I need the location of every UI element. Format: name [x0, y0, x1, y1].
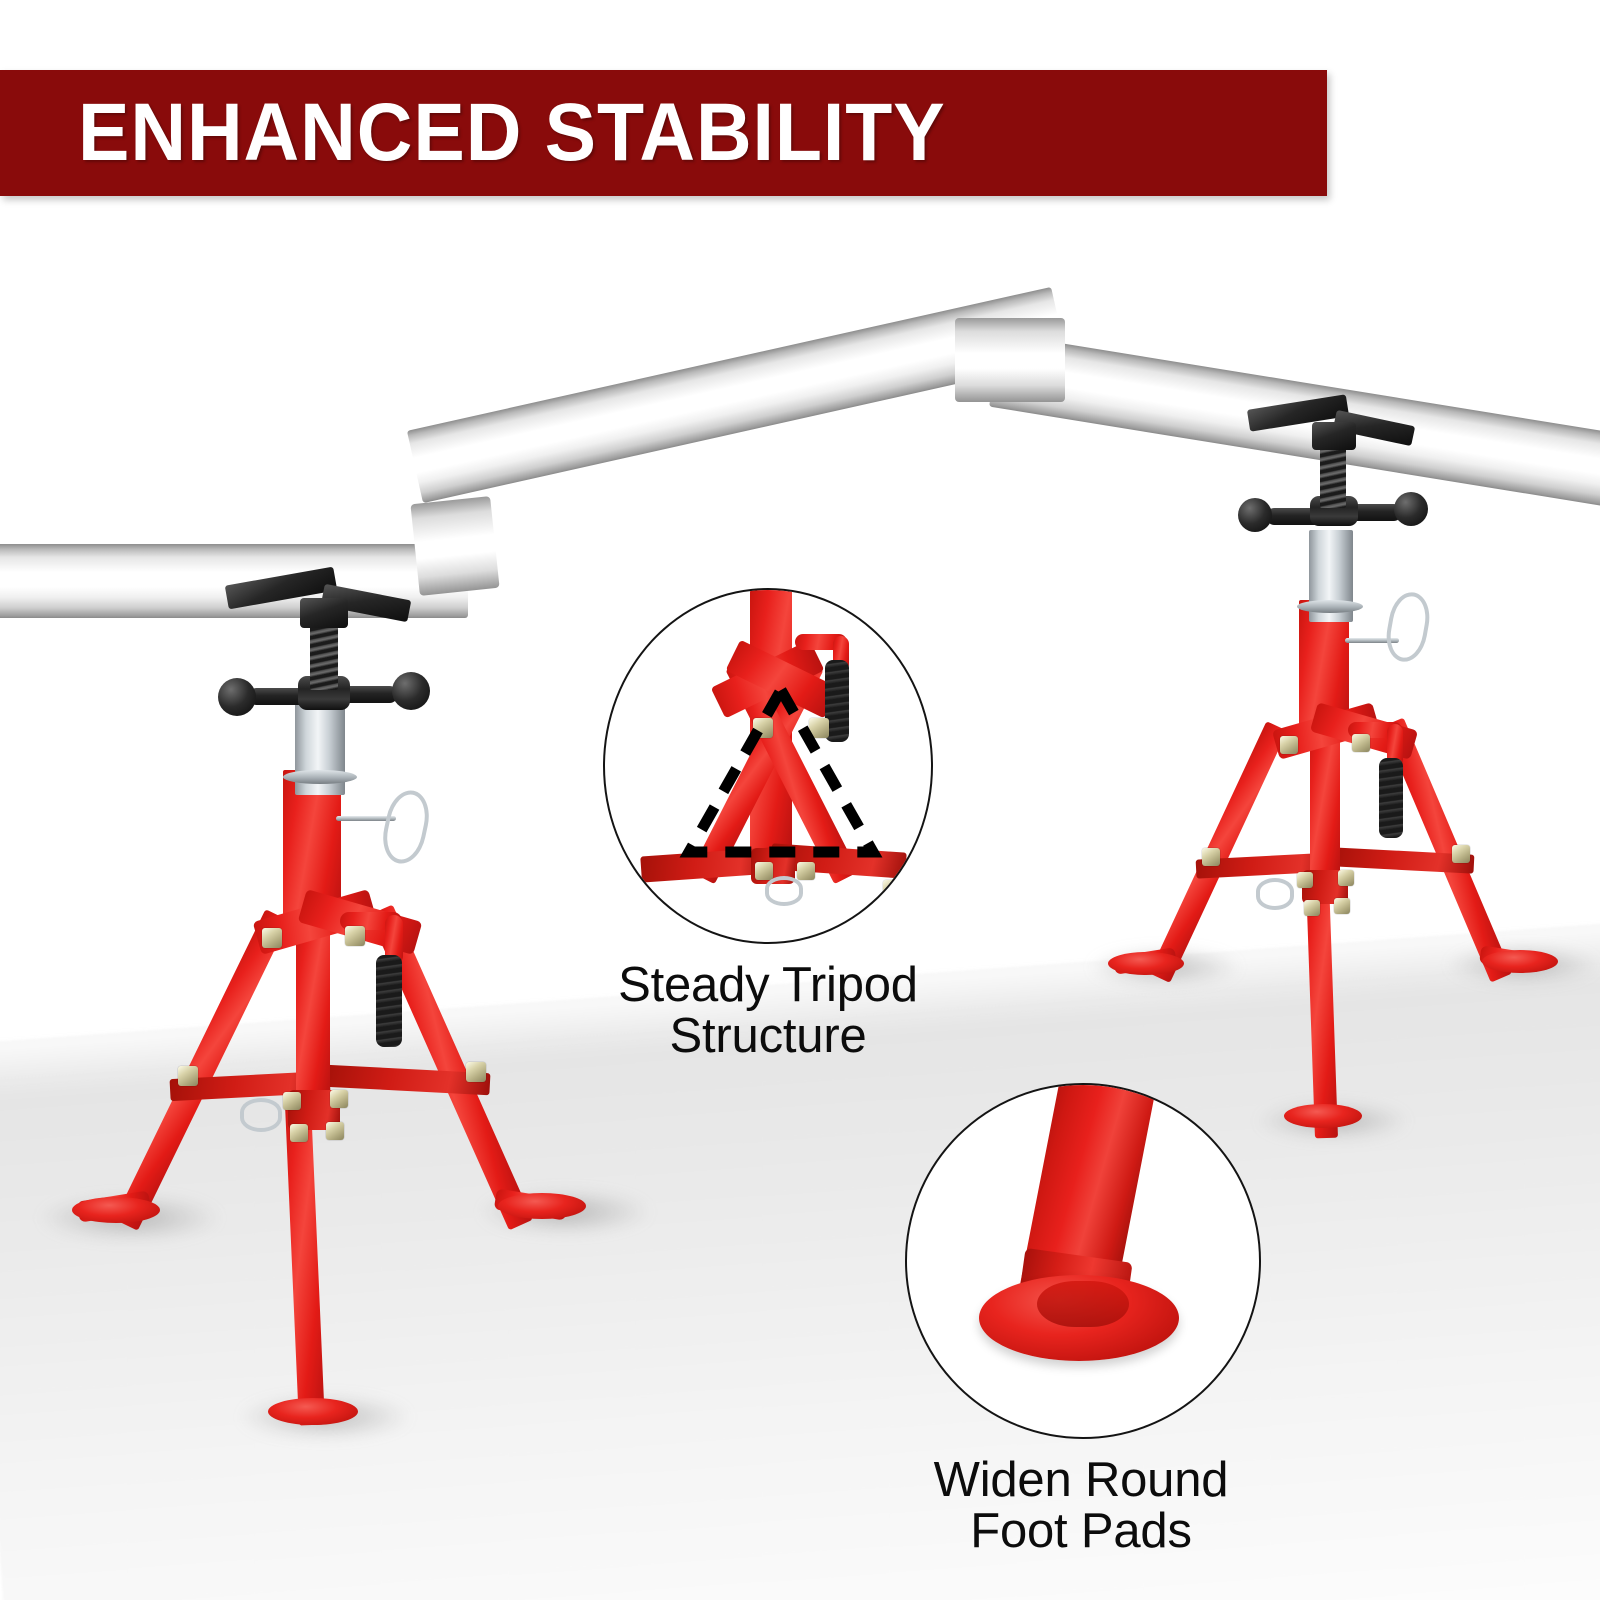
round-foot-pad-left: [72, 1197, 160, 1223]
bolt-yoke-right: [1352, 734, 1370, 752]
lock-pin-loop: [378, 786, 434, 867]
bolt-brace-right: [466, 1062, 486, 1082]
bolt-collar-left: [1297, 872, 1313, 888]
callout-tripod-caption: Steady TripodStructure: [558, 960, 978, 1062]
saddle-hub: [300, 598, 348, 628]
round-foot-pad-left: [1108, 952, 1184, 975]
bolt-post-right: [326, 1122, 344, 1140]
callout-tripod-circle: [603, 588, 933, 944]
caption-line-1: Steady Tripod: [618, 958, 918, 1012]
bolt-yoke-left: [262, 928, 282, 948]
bolt-post-right: [1334, 898, 1350, 914]
bolt-collar-right: [1338, 870, 1354, 886]
bolt-post-left: [1304, 900, 1320, 916]
dashed-triangle-overlay: [605, 590, 931, 942]
base-pin-loop: [1256, 878, 1294, 910]
zinc-flange: [1297, 600, 1363, 613]
acme-screw: [1320, 446, 1346, 508]
zinc-flange: [283, 770, 357, 784]
bolt-post-left: [290, 1124, 308, 1142]
round-foot-pad-front: [1284, 1104, 1362, 1128]
caption-line-2: Structure: [670, 1009, 867, 1063]
bolt-brace-left: [178, 1066, 198, 1086]
acme-screw: [310, 620, 338, 690]
caption-line-1: Widen Round: [934, 1453, 1229, 1507]
t-handle-ball-left: [1238, 498, 1272, 532]
saddle-hub: [1312, 422, 1356, 450]
t-handle-ball-right: [1394, 492, 1428, 526]
lock-pin-loop: [1382, 589, 1434, 665]
callout-footpad-circle: [905, 1083, 1261, 1439]
bolt-yoke-left: [1280, 736, 1298, 754]
handle-grip: [1379, 758, 1403, 838]
zoom-weld-fillet: [1037, 1281, 1129, 1327]
bolt-collar-right: [330, 1090, 348, 1108]
bolt-brace-left: [1202, 848, 1220, 866]
callout-footpad-caption: Widen RoundFoot Pads: [866, 1455, 1296, 1557]
pipe-bend-left: [410, 496, 499, 596]
caption-line-2: Foot Pads: [970, 1504, 1192, 1558]
handle-grip: [376, 955, 402, 1047]
round-foot-pad-right: [498, 1193, 586, 1219]
t-handle-ball-right: [392, 672, 430, 710]
bolt-collar-left: [283, 1092, 301, 1110]
pipe-bend-apex: [955, 318, 1065, 402]
banner-title: ENHANCED STABILITY: [78, 70, 946, 196]
t-handle-ball-left: [218, 678, 256, 716]
bolt-brace-right: [1452, 845, 1470, 863]
product-feature-image: Steady TripodStructure Widen RoundFoot P…: [0, 0, 1600, 1600]
bolt-yoke-right: [345, 926, 365, 946]
round-foot-pad-right: [1482, 950, 1558, 973]
round-foot-pad-front: [268, 1398, 358, 1425]
base-pin-loop: [240, 1098, 282, 1132]
